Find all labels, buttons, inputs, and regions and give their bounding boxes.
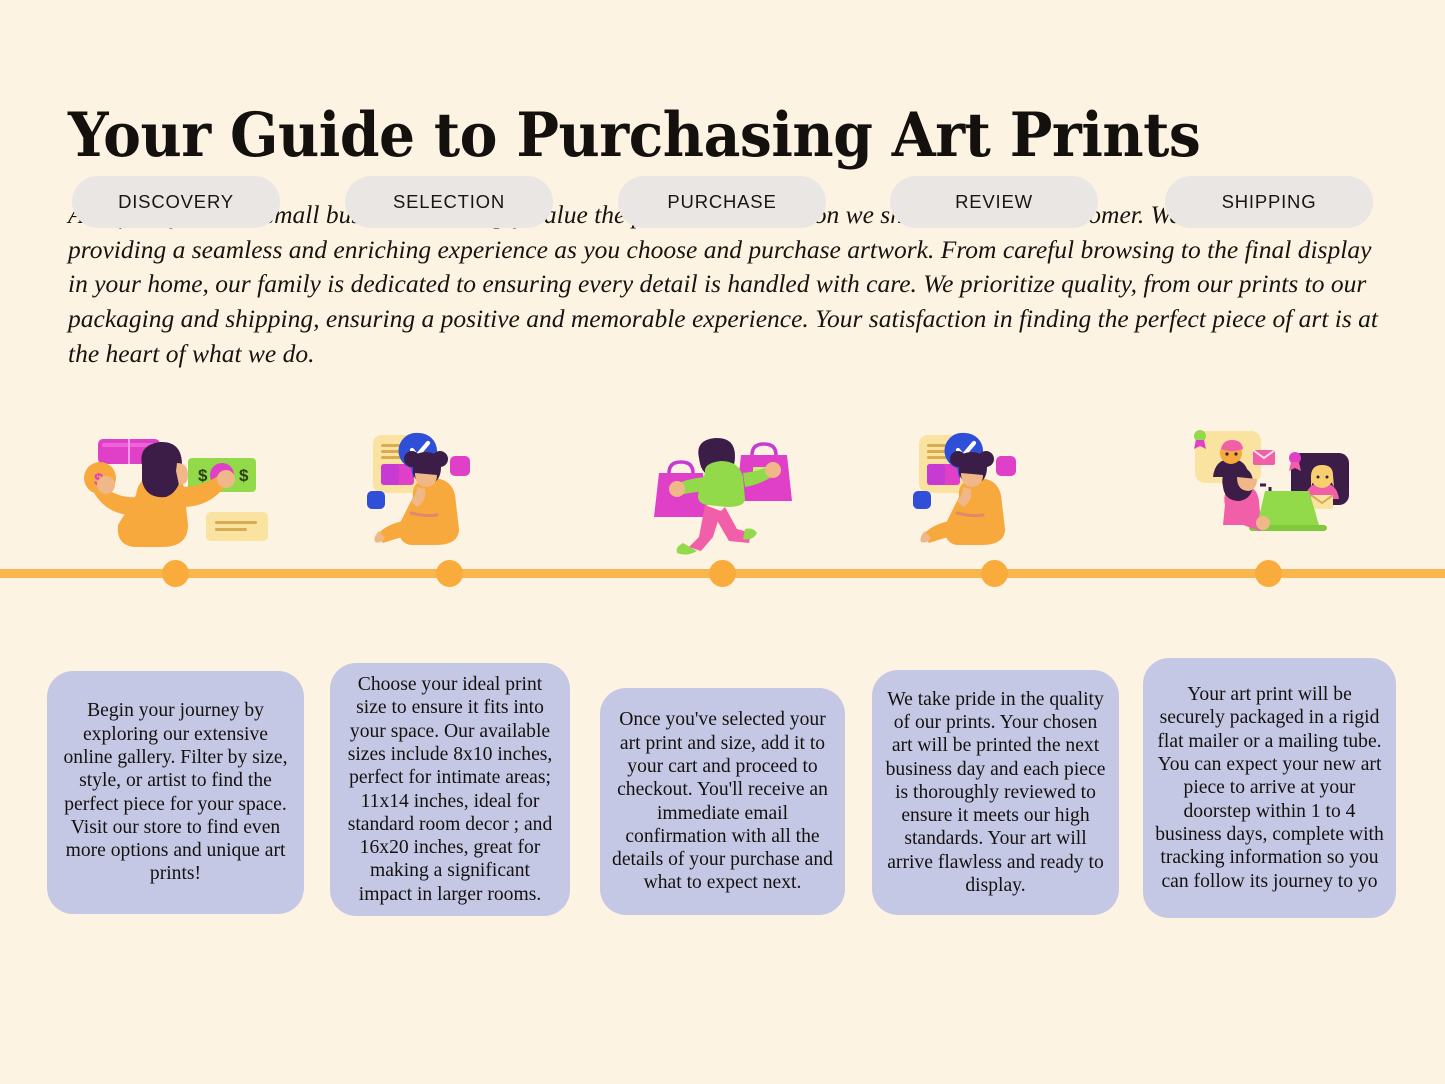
stage-label-text: PURCHASE bbox=[667, 191, 776, 213]
timeline-dot-selection bbox=[436, 560, 463, 587]
stage-description-text: We take pride in the quality of our prin… bbox=[884, 688, 1107, 898]
timeline-dot-review bbox=[981, 560, 1008, 587]
stage-label-text: SHIPPING bbox=[1222, 191, 1317, 213]
stage-description-card-discovery: Begin your journey by exploring our exte… bbox=[47, 671, 304, 914]
stage-description-text: Your art print will be securely packaged… bbox=[1155, 683, 1384, 893]
stage-description-card-review: We take pride in the quality of our prin… bbox=[872, 670, 1119, 915]
infographic-page: Your Guide to Purchasing Art Prints As a… bbox=[0, 0, 1445, 1084]
timeline-dot-purchase bbox=[709, 560, 736, 587]
stage-label-review[interactable]: REVIEW bbox=[890, 176, 1098, 228]
stage-label-text: SELECTION bbox=[393, 191, 505, 213]
stage-label-discovery[interactable]: DISCOVERY bbox=[72, 176, 280, 228]
timeline-dot-discovery bbox=[162, 560, 189, 587]
person-with-money-icon: $ $ $ bbox=[47, 425, 304, 560]
stage-label-purchase[interactable]: PURCHASE bbox=[618, 176, 826, 228]
stage-description-card-selection: Choose your ideal print size to ensure i… bbox=[330, 663, 570, 916]
stage-label-shipping[interactable]: SHIPPING bbox=[1165, 176, 1373, 228]
stage-description-text: Once you've selected your art print and … bbox=[612, 708, 833, 895]
person-thinking-with-card-icon bbox=[330, 425, 570, 560]
person-with-shopping-bags-icon bbox=[600, 425, 845, 560]
stage-label-text: DISCOVERY bbox=[118, 191, 234, 213]
stage-description-card-shipping: Your art print will be securely packaged… bbox=[1143, 658, 1396, 918]
stage-description-text: Choose your ideal print size to ensure i… bbox=[342, 673, 558, 906]
stage-label-text: REVIEW bbox=[955, 191, 1033, 213]
svg-text:$: $ bbox=[239, 466, 249, 485]
stage-description-text: Begin your journey by exploring our exte… bbox=[59, 699, 292, 886]
page-title: Your Guide to Purchasing Art Prints bbox=[68, 104, 1286, 168]
stage-description-card-purchase: Once you've selected your art print and … bbox=[600, 688, 845, 915]
person-thinking-with-card-icon bbox=[872, 425, 1119, 560]
person-at-laptop-video-call-icon bbox=[1143, 425, 1396, 560]
stage-label-selection[interactable]: SELECTION bbox=[345, 176, 553, 228]
svg-text:$: $ bbox=[198, 466, 208, 485]
header: Your Guide to Purchasing Art Prints As a… bbox=[68, 104, 1378, 371]
